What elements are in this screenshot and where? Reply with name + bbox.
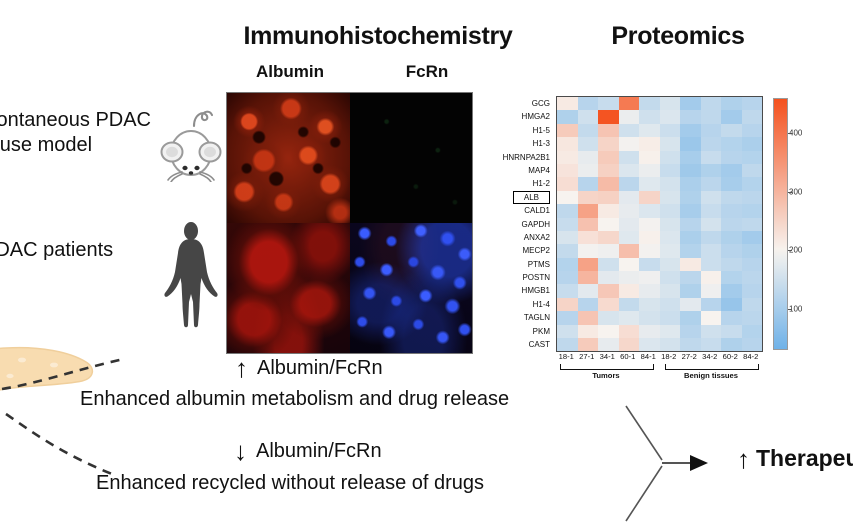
heatmap-cell xyxy=(639,97,660,110)
group-bracket-benign xyxy=(665,364,759,370)
group-label-benign: Benign tissues xyxy=(665,371,757,380)
therapeutic-label: Therapeuti xyxy=(756,445,853,472)
heatmap-cell xyxy=(721,191,742,204)
caption-patients: PDAC patients xyxy=(0,238,162,263)
heatmap-cell xyxy=(701,338,722,351)
colorbar-tick-mark xyxy=(788,192,792,193)
heatmap-cell xyxy=(598,218,619,231)
heatmap-cell xyxy=(701,151,722,164)
heatmap-cell xyxy=(660,258,681,271)
heatmap-cell xyxy=(721,298,742,311)
heatmap-cell xyxy=(578,258,599,271)
heatmap-cell xyxy=(701,177,722,190)
heatmap-cell xyxy=(701,271,722,284)
heatmap-cell xyxy=(639,177,660,190)
heatmap-cell xyxy=(578,124,599,137)
heatmap-cell xyxy=(701,110,722,123)
heatmap-cell xyxy=(557,204,578,217)
heatmap-cell xyxy=(619,231,640,244)
heatmap-cell xyxy=(578,271,599,284)
heatmap-cell xyxy=(680,204,701,217)
heatmap-cell xyxy=(619,311,640,324)
heatmap-cell xyxy=(721,151,742,164)
heatmap-cell xyxy=(701,191,722,204)
heatmap-row-label: CALD1 xyxy=(497,204,554,217)
heatmap-cell xyxy=(619,298,640,311)
heatmap-row-label: GAPDH xyxy=(497,218,554,231)
down-albumin-fcrn-label: Albumin/FcRn xyxy=(256,440,382,463)
heatmap-cell xyxy=(557,164,578,177)
ihc-panel-mouse-albumin xyxy=(227,93,350,223)
heatmap-cell xyxy=(557,298,578,311)
ihc-image-montage xyxy=(226,92,473,354)
heatmap-cell xyxy=(680,231,701,244)
heatmap-cell xyxy=(680,177,701,190)
heatmap-cell xyxy=(639,151,660,164)
heatmap-cell xyxy=(680,151,701,164)
heatmap-cell xyxy=(578,244,599,257)
heatmap-column-label: 27-1 xyxy=(577,352,598,361)
heatmap-cell xyxy=(680,325,701,338)
heatmap-cell xyxy=(742,97,763,110)
enhanced-recycled-sentence: Enhanced recycled without release of dru… xyxy=(96,472,484,495)
heatmap-cell xyxy=(721,110,742,123)
heatmap-cell xyxy=(557,110,578,123)
mouse-icon xyxy=(160,104,222,187)
heatmap-cell xyxy=(721,218,742,231)
heatmap-cell xyxy=(742,231,763,244)
heatmap-cell xyxy=(660,124,681,137)
heatmap-cell xyxy=(619,325,640,338)
heatmap-row-label: MAP4 xyxy=(497,164,554,177)
heatmap-cell xyxy=(578,164,599,177)
heatmap-row-label: H1-2 xyxy=(497,177,554,190)
heatmap-row-label: CAST xyxy=(497,338,554,351)
heatmap-cell xyxy=(721,164,742,177)
heatmap-cell xyxy=(578,325,599,338)
heatmap-cell xyxy=(701,325,722,338)
heatmap-cell xyxy=(639,204,660,217)
heatmap-cell xyxy=(701,244,722,257)
heatmap-cell xyxy=(619,204,640,217)
heatmap-cell xyxy=(557,338,578,351)
heatmap-cell xyxy=(721,177,742,190)
heatmap-cell xyxy=(578,338,599,351)
heatmap-cell xyxy=(680,271,701,284)
heatmap-cell xyxy=(721,271,742,284)
heatmap-cell xyxy=(639,124,660,137)
colorbar-tick-mark xyxy=(788,250,792,251)
heatmap-cell xyxy=(721,231,742,244)
heatmap-cell xyxy=(619,271,640,284)
heatmap-row-labels: GCGHMGA2H1-5H1-3HNRNPA2B1MAP4H1-2ALBCALD… xyxy=(497,97,554,351)
heatmap-cell xyxy=(721,284,742,297)
heatmap-cell xyxy=(557,258,578,271)
heatmap-cell xyxy=(680,258,701,271)
heatmap-column-label: 60-2 xyxy=(720,352,741,361)
heatmap-cell xyxy=(578,284,599,297)
heatmap-cell xyxy=(598,97,619,110)
heatmap-cell xyxy=(639,244,660,257)
heatmap-cell xyxy=(701,164,722,177)
heatmap-cell xyxy=(639,311,660,324)
heatmap-cell xyxy=(578,177,599,190)
heatmap-row-label: TAGLN xyxy=(497,311,554,324)
heatmap-cell xyxy=(742,110,763,123)
down-albumin-fcrn-row: ↓ Albumin/FcRn xyxy=(234,438,382,464)
heatmap-cell xyxy=(557,325,578,338)
heatmap-cell xyxy=(557,177,578,190)
heatmap-cell xyxy=(701,97,722,110)
heatmap-cell xyxy=(660,204,681,217)
heatmap-cell xyxy=(660,218,681,231)
heatmap-cell xyxy=(598,338,619,351)
heatmap-row-label: PTMS xyxy=(497,258,554,271)
heatmap-cell xyxy=(598,137,619,150)
heatmap-cell xyxy=(721,338,742,351)
heatmap-cell xyxy=(578,151,599,164)
up-arrow-icon: ↑ xyxy=(235,355,248,381)
heatmap-cell xyxy=(742,244,763,257)
heatmap-cell xyxy=(639,164,660,177)
heatmap-cell xyxy=(680,338,701,351)
heatmap-row-label: H1-5 xyxy=(497,124,554,137)
heatmap-cell xyxy=(598,244,619,257)
heatmap-cell xyxy=(680,164,701,177)
heatmap-cell xyxy=(598,284,619,297)
heatmap-cell xyxy=(721,97,742,110)
heatmap-cell xyxy=(639,231,660,244)
heatmap-cell xyxy=(557,151,578,164)
therapeutic-up-arrow-icon: ↑ xyxy=(737,446,750,472)
heatmap-cell xyxy=(619,338,640,351)
heatmap-cell xyxy=(721,137,742,150)
heatmap-cell xyxy=(680,191,701,204)
heatmap-cell xyxy=(598,110,619,123)
heatmap-cell xyxy=(619,177,640,190)
heatmap-cell xyxy=(619,284,640,297)
heatmap-cell xyxy=(619,244,640,257)
heatmap-cell xyxy=(598,271,619,284)
enhanced-metabolism-sentence: Enhanced albumin metabolism and drug rel… xyxy=(80,388,509,411)
heatmap-cell xyxy=(598,191,619,204)
heatmap-cell xyxy=(660,338,681,351)
heatmap-cell xyxy=(680,311,701,324)
heatmap-cell xyxy=(639,338,660,351)
heatmap-cell xyxy=(619,151,640,164)
caption-mouse-model: Spontaneous PDAC mouse model xyxy=(0,108,162,158)
heatmap-cell xyxy=(619,124,640,137)
heatmap-cell xyxy=(578,298,599,311)
heatmap-cell xyxy=(639,110,660,123)
heatmap-cell xyxy=(721,244,742,257)
group-label-tumors: Tumors xyxy=(560,371,652,380)
up-albumin-fcrn-label: Albumin/FcRn xyxy=(257,357,383,380)
heatmap-cell xyxy=(639,284,660,297)
heatmap-cell xyxy=(742,325,763,338)
heatmap-cell xyxy=(557,271,578,284)
colorbar-tick-mark xyxy=(788,309,792,310)
ihc-section-title: Immunohistochemistry xyxy=(228,22,528,51)
heatmap-row-label: MECP2 xyxy=(497,244,554,257)
heatmap-column-label: 84-2 xyxy=(741,352,762,361)
heatmap-cell xyxy=(742,137,763,150)
heatmap-cell xyxy=(742,124,763,137)
heatmap-cell xyxy=(680,124,701,137)
heatmap-cell xyxy=(619,258,640,271)
heatmap-cell xyxy=(660,311,681,324)
heatmap-column-label: 60-1 xyxy=(618,352,639,361)
heatmap-cell xyxy=(557,284,578,297)
heatmap-cell xyxy=(660,177,681,190)
heatmap-grid xyxy=(556,96,763,352)
heatmap-cell xyxy=(742,311,763,324)
heatmap-cell xyxy=(701,218,722,231)
ihc-panel-patient-fcrn xyxy=(350,223,473,353)
heatmap-cell xyxy=(721,311,742,324)
heatmap-row-label: HNRNPA2B1 xyxy=(497,151,554,164)
heatmap-cell xyxy=(557,124,578,137)
heatmap-cell xyxy=(598,258,619,271)
ihc-panel-patient-albumin xyxy=(227,223,350,353)
heatmap-cell xyxy=(701,298,722,311)
heatmap-cell xyxy=(598,124,619,137)
heatmap-cell xyxy=(598,204,619,217)
heatmap-cell xyxy=(619,218,640,231)
heatmap-cell xyxy=(742,164,763,177)
heatmap-cell xyxy=(578,137,599,150)
heatmap-cell xyxy=(680,244,701,257)
heatmap-cell xyxy=(742,218,763,231)
heatmap-column-label: 18-1 xyxy=(556,352,577,361)
heatmap-column-label: 34-2 xyxy=(700,352,721,361)
heatmap-cell xyxy=(680,97,701,110)
heatmap-cell xyxy=(660,191,681,204)
heatmap-column-label: 84-1 xyxy=(638,352,659,361)
down-arrow-icon: ↓ xyxy=(234,438,247,464)
heatmap-row-label: H1-4 xyxy=(497,298,554,311)
heatmap-cell xyxy=(578,218,599,231)
heatmap-colorbar xyxy=(773,98,788,350)
heatmap-cell xyxy=(639,137,660,150)
proteomics-section-title: Proteomics xyxy=(588,22,768,51)
heatmap-cell xyxy=(557,231,578,244)
fcrn-column-title: FcRn xyxy=(382,62,472,82)
heatmap-cell xyxy=(578,110,599,123)
heatmap-cell xyxy=(557,191,578,204)
heatmap-cell xyxy=(701,137,722,150)
heatmap-cell xyxy=(742,177,763,190)
heatmap-cell xyxy=(619,137,640,150)
heatmap-cell xyxy=(680,110,701,123)
heatmap-cell xyxy=(578,191,599,204)
heatmap-cell xyxy=(598,298,619,311)
therapeutic-outcome-row: ↑ Therapeuti xyxy=(737,445,853,472)
heatmap-cell xyxy=(701,258,722,271)
heatmap-cell xyxy=(578,311,599,324)
heatmap-cell xyxy=(660,137,681,150)
heatmap-row-label: PKM xyxy=(497,325,554,338)
heatmap-cell xyxy=(721,204,742,217)
heatmap-cell xyxy=(639,271,660,284)
heatmap-column-labels: 18-127-134-160-184-118-227-234-260-284-2 xyxy=(556,352,761,361)
heatmap-cell xyxy=(680,137,701,150)
heatmap-cell xyxy=(721,124,742,137)
heatmap-cell xyxy=(660,298,681,311)
heatmap-row-label: HMGA2 xyxy=(497,110,554,123)
heatmap-cell xyxy=(680,218,701,231)
heatmap-cell xyxy=(660,325,681,338)
heatmap-cell xyxy=(557,137,578,150)
heatmap-cell xyxy=(578,97,599,110)
heatmap-cell xyxy=(598,231,619,244)
heatmap-cell xyxy=(742,298,763,311)
heatmap-column-label: 27-2 xyxy=(679,352,700,361)
heatmap-cell xyxy=(557,244,578,257)
heatmap-cell xyxy=(578,204,599,217)
heatmap-cell xyxy=(639,298,660,311)
heatmap-row-label: ANXA2 xyxy=(497,231,554,244)
heatmap-cell xyxy=(598,325,619,338)
heatmap-cell xyxy=(598,311,619,324)
heatmap-row-label: HMGB1 xyxy=(497,284,554,297)
heatmap-cell xyxy=(721,258,742,271)
heatmap-cell xyxy=(701,311,722,324)
heatmap-cell xyxy=(660,151,681,164)
heatmap-cell xyxy=(701,124,722,137)
heatmap-row-label: H1-3 xyxy=(497,137,554,150)
heatmap-cell xyxy=(660,244,681,257)
heatmap-cell xyxy=(639,191,660,204)
heatmap-cell xyxy=(619,164,640,177)
heatmap-cell xyxy=(660,164,681,177)
group-bracket-tumors xyxy=(560,364,654,370)
heatmap-cell xyxy=(660,271,681,284)
heatmap-cell xyxy=(598,151,619,164)
heatmap-cell xyxy=(639,218,660,231)
human-figure-icon xyxy=(163,222,219,335)
heatmap-cell xyxy=(660,110,681,123)
ihc-panel-mouse-fcrn xyxy=(350,93,473,223)
heatmap-cell xyxy=(639,325,660,338)
heatmap-cell xyxy=(619,110,640,123)
converging-right-arrow-icon xyxy=(616,402,731,525)
heatmap-cell xyxy=(742,271,763,284)
heatmap-cell xyxy=(557,218,578,231)
heatmap-cell xyxy=(557,97,578,110)
heatmap-column-label: 18-2 xyxy=(659,352,680,361)
albumin-column-title: Albumin xyxy=(235,62,345,82)
heatmap-cell xyxy=(701,231,722,244)
heatmap-row-label: GCG xyxy=(497,97,554,110)
heatmap-cell xyxy=(639,258,660,271)
heatmap-cell xyxy=(660,231,681,244)
heatmap-cell xyxy=(619,191,640,204)
heatmap-cell xyxy=(619,97,640,110)
heatmap-cell xyxy=(598,177,619,190)
heatmap-cell xyxy=(721,325,742,338)
heatmap-cell xyxy=(680,284,701,297)
heatmap-cell xyxy=(598,164,619,177)
heatmap-cell xyxy=(742,338,763,351)
heatmap-cell xyxy=(742,284,763,297)
heatmap-column-label: 34-1 xyxy=(597,352,618,361)
heatmap-cell xyxy=(660,284,681,297)
heatmap-cell xyxy=(578,231,599,244)
heatmap-cell xyxy=(680,298,701,311)
heatmap-cell xyxy=(742,151,763,164)
up-albumin-fcrn-row: ↑ Albumin/FcRn xyxy=(235,355,383,381)
heatmap-cell xyxy=(701,284,722,297)
heatmap-cell xyxy=(660,97,681,110)
heatmap-row-label: POSTN xyxy=(497,271,554,284)
heatmap-cell xyxy=(742,258,763,271)
heatmap-cell xyxy=(701,204,722,217)
heatmap-cell xyxy=(557,311,578,324)
heatmap-cell xyxy=(742,204,763,217)
heatmap-cell xyxy=(742,191,763,204)
colorbar-tick-mark xyxy=(788,133,792,134)
heatmap-row-label: ALB xyxy=(497,191,554,204)
